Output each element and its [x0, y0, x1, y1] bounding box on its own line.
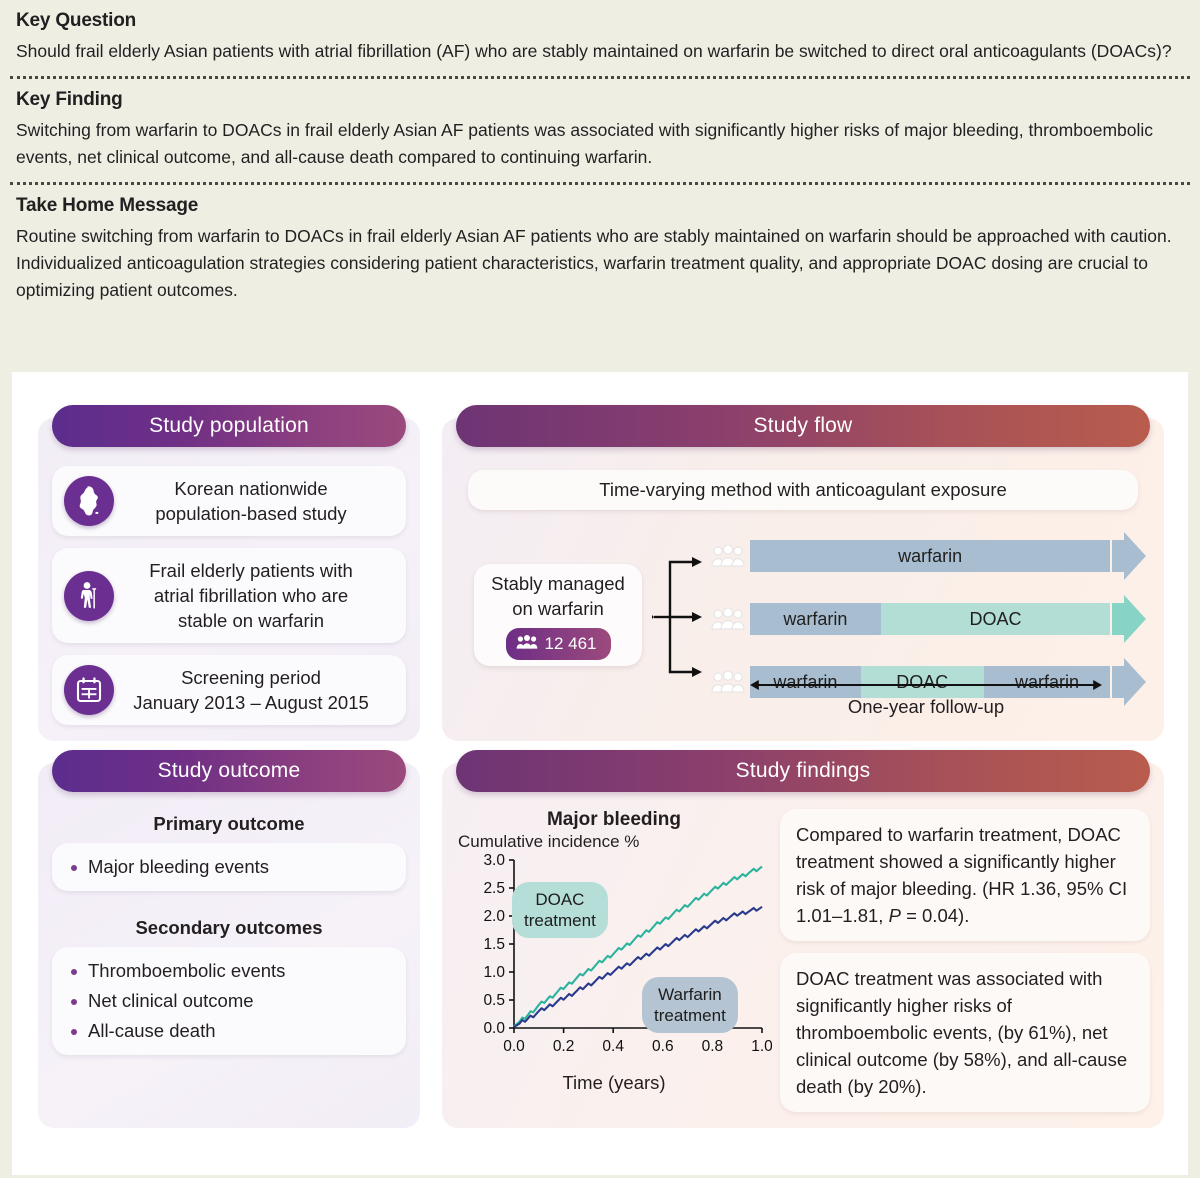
take-home-block: Take Home Message Routine switching from… [0, 195, 1200, 304]
timeline-bar: warfarin DOAC [750, 603, 1146, 635]
timeline-segment: warfarin [750, 540, 1110, 572]
svg-text:1.0: 1.0 [483, 964, 505, 981]
primary-outcome-title: Primary outcome [52, 813, 406, 835]
take-home-heading: Take Home Message [16, 195, 1184, 217]
chart-annotation-doac: DOAC treatment DOACtreatment [512, 882, 608, 938]
study-flow-body: Stably managed on warfarin 12 461 [456, 518, 1150, 714]
chart-title: Major bleeding [456, 809, 772, 831]
finding-box: DOAC treatment was associated with signi… [780, 953, 1150, 1112]
svg-text:0.8: 0.8 [702, 1038, 724, 1055]
figure-card: Study population Korean nationwidepopula… [12, 372, 1188, 1175]
svg-text:0.6: 0.6 [652, 1038, 674, 1055]
arrow-head-icon [1112, 595, 1146, 643]
list-item-label: Screening periodJanuary 2013 – August 20… [114, 665, 394, 715]
study-findings-body: Major bleeding Cumulative incidence % 0.… [456, 809, 1150, 1112]
finding-text: DOAC treatment was associated with signi… [796, 968, 1127, 1097]
divider-2 [10, 182, 1190, 185]
followup-block: One-year follow-up [706, 678, 1146, 718]
panel-study-outcome: Study outcome Primary outcome Major blee… [38, 763, 420, 1128]
korea-map-icon [64, 476, 114, 526]
panel-grid: Study population Korean nationwidepopula… [38, 418, 1164, 1128]
study-population-header: Study population [52, 405, 406, 447]
flow-row: warfarin DOAC [706, 599, 1146, 639]
secondary-outcome-box: Thromboembolic events Net clinical outco… [52, 947, 406, 1055]
cohort-line-1: Stably managed [491, 571, 625, 596]
calendar-icon [64, 665, 114, 715]
svg-text:2.0: 2.0 [483, 908, 505, 925]
elderly-person-icon [64, 571, 114, 621]
people-icon [706, 608, 750, 630]
finding-italic: P [889, 905, 901, 926]
timeline-segment: DOAC [881, 603, 1111, 635]
svg-text:3.0: 3.0 [483, 852, 505, 869]
study-findings-header: Study findings [456, 750, 1150, 792]
timeline-bar: warfarin [750, 540, 1146, 572]
cohort-line-2: on warfarin [512, 596, 604, 621]
secondary-outcome-title: Secondary outcomes [52, 917, 406, 939]
list-item-label: Frail elderly patients withatrial fibril… [114, 558, 394, 633]
list-item: Thromboembolic events [68, 956, 390, 986]
list-item: All-cause death [68, 1016, 390, 1046]
major-bleeding-chart: Major bleeding Cumulative incidence % 0.… [456, 809, 772, 1112]
svg-text:2.5: 2.5 [483, 880, 505, 897]
key-finding-block: Key Finding Switching from warfarin to D… [0, 89, 1200, 171]
key-question-heading: Key Question [16, 10, 1184, 32]
svg-text:0.5: 0.5 [483, 992, 505, 1009]
list-item: Major bleeding events [68, 852, 390, 882]
findings-text-column: Compared to warfarin treatment, DOAC tre… [780, 809, 1150, 1112]
list-item: Frail elderly patients withatrial fibril… [52, 548, 406, 643]
study-outcome-header: Study outcome [52, 750, 406, 792]
panel-study-findings: Study findings Major bleeding Cumulative… [442, 763, 1164, 1128]
list-item: Screening periodJanuary 2013 – August 20… [52, 655, 406, 725]
cohort-count-value: 12 461 [545, 631, 597, 656]
chart-y-axis-label: Cumulative incidence % [458, 832, 772, 852]
panel-study-population: Study population Korean nationwidepopula… [38, 418, 420, 741]
chart-annotation-warfarin: Warfarintreatment [642, 977, 738, 1033]
list-item-label: Korean nationwidepopulation-based study [114, 476, 394, 526]
key-question-body: Should frail elderly Asian patients with… [16, 38, 1176, 65]
svg-text:1.0: 1.0 [751, 1038, 772, 1055]
list-item: Korean nationwidepopulation-based study [52, 466, 406, 536]
primary-outcome-box: Major bleeding events [52, 843, 406, 891]
svg-text:0.0: 0.0 [483, 1020, 505, 1037]
list-item: Net clinical outcome [68, 986, 390, 1016]
people-icon [516, 631, 538, 656]
chart-svg: 0.00.51.01.52.02.53.00.00.20.40.60.81.0 [456, 852, 772, 1074]
people-icon [706, 545, 750, 567]
cohort-count-badge: 12 461 [506, 628, 611, 660]
followup-axis [750, 678, 1102, 692]
cohort-box: Stably managed on warfarin 12 461 [474, 564, 642, 666]
chart-x-axis-label: Time (years) [456, 1072, 772, 1094]
key-question-block: Key Question Should frail elderly Asian … [0, 10, 1200, 65]
followup-label: One-year follow-up [706, 696, 1146, 718]
key-finding-body: Switching from warfarin to DOACs in frai… [16, 117, 1176, 171]
key-finding-heading: Key Finding [16, 89, 1184, 111]
svg-text:0.4: 0.4 [602, 1038, 624, 1055]
take-home-body: Routine switching from warfarin to DOACs… [16, 223, 1176, 304]
time-varying-method-label: Time-varying method with anticoagulant e… [468, 470, 1138, 510]
svg-text:0.2: 0.2 [553, 1038, 575, 1055]
finding-box: Compared to warfarin treatment, DOAC tre… [780, 809, 1150, 941]
flow-row: warfarin [706, 536, 1146, 576]
arrow-head-icon [1112, 532, 1146, 580]
infographic-page: Key Question Should frail elderly Asian … [0, 10, 1200, 1178]
svg-text:1.5: 1.5 [483, 936, 505, 953]
panel-study-flow: Study flow Time-varying method with anti… [442, 418, 1164, 741]
chart-plot-area: 0.00.51.01.52.02.53.00.00.20.40.60.81.0 … [456, 852, 772, 1074]
study-flow-header: Study flow [456, 405, 1150, 447]
finding-text-tail: = 0.04). [901, 905, 969, 926]
flow-branch-arrows [652, 552, 708, 682]
study-population-items: Korean nationwidepopulation-based study … [52, 466, 406, 725]
timeline-segment: warfarin [750, 603, 881, 635]
svg-text:0.0: 0.0 [503, 1038, 525, 1055]
divider-1 [10, 76, 1190, 79]
